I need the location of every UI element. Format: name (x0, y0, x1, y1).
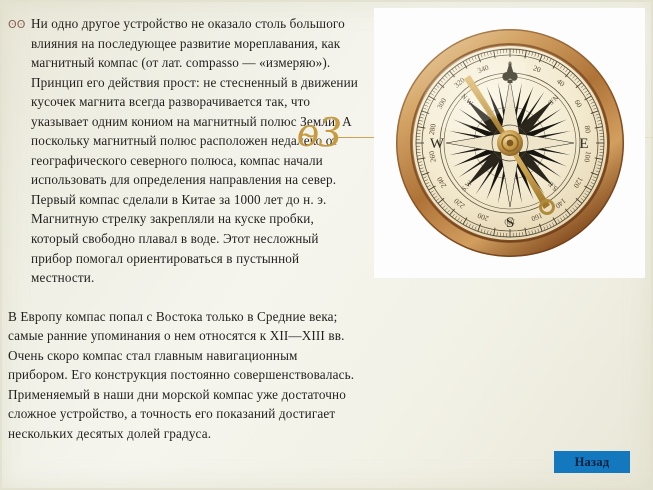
compass-photo: 0204060801001201401601802002202402602803… (374, 8, 645, 278)
paragraph-1-text: Ни одно другое устройство не оказало сто… (31, 16, 358, 285)
compass-label-e: E (579, 136, 588, 152)
paragraph-1: ʘʘ Ни одно другое устройство не оказало … (8, 14, 360, 288)
compass-label-s: S (505, 215, 513, 231)
slide-canvas: ʘʘ Ни одно другое устройство не оказало … (0, 0, 653, 490)
content-text-block: ʘʘ Ни одно другое устройство не оказало … (8, 14, 360, 443)
paragraph-2-text: В Европу компас попал с Востока только в… (8, 309, 354, 441)
paragraph-2: В Европу компас попал с Востока только в… (8, 307, 360, 444)
compass-label-w: W (429, 136, 444, 152)
ornament-bullet-icon: ʘʘ (8, 15, 26, 35)
back-button[interactable]: Назад (554, 451, 630, 473)
compass-illustration: 0204060801001201401601802002202402602803… (394, 27, 626, 259)
